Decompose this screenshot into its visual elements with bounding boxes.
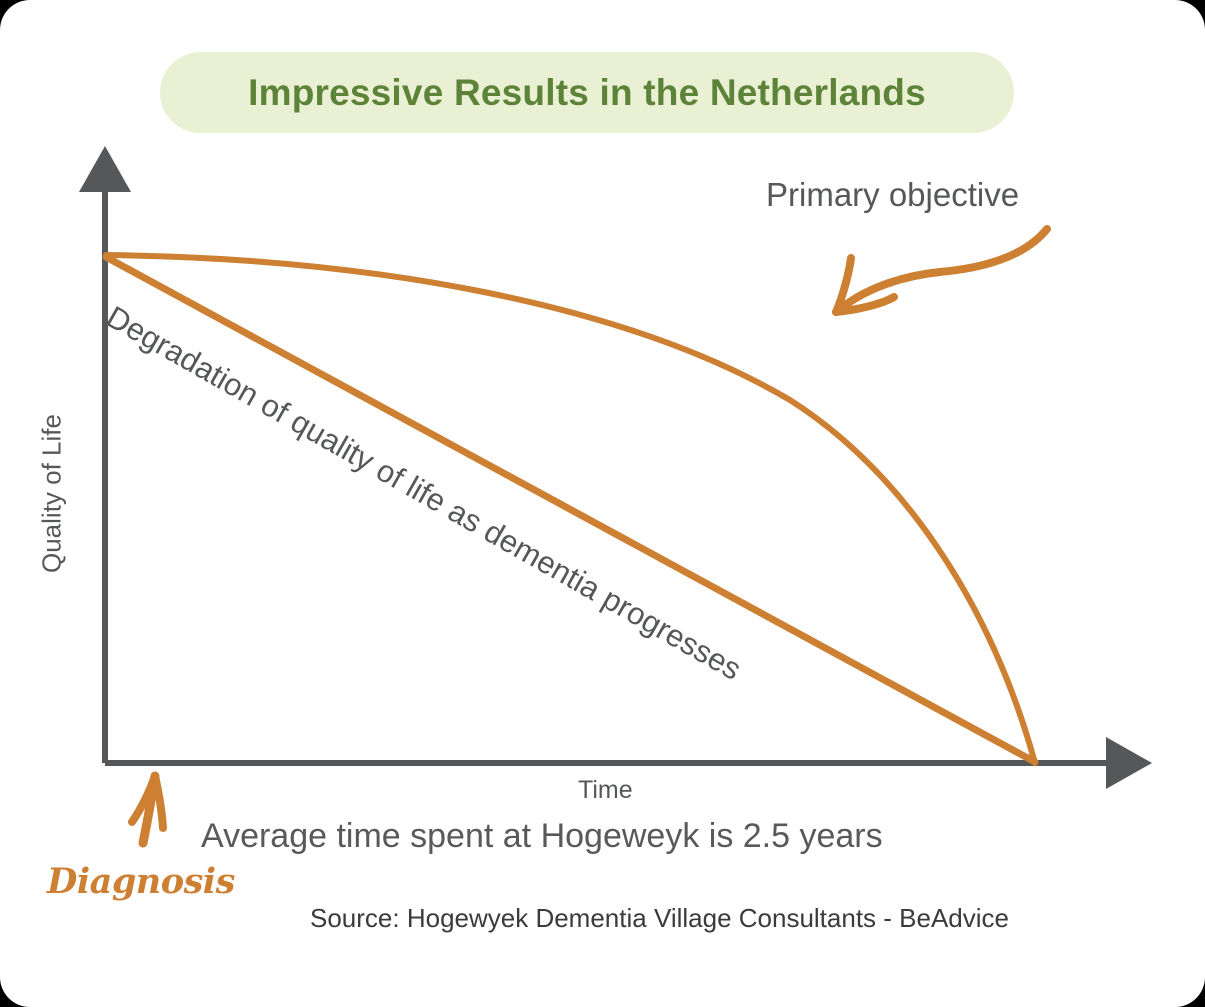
infographic-card: Impressive Results in the Netherlands Qu… <box>0 0 1205 1007</box>
arrow-up-icon <box>79 146 131 192</box>
average-time-caption: Average time spent at Hogeweyk is 2.5 ye… <box>201 817 883 856</box>
curved-arrow-down-left-icon <box>836 229 1047 312</box>
arrow-right-icon <box>1106 737 1152 789</box>
diagnosis-label: Diagnosis <box>47 861 235 902</box>
x-axis-label: Time <box>578 776 633 805</box>
hand-drawn-arrow-up-icon <box>132 776 163 843</box>
primary-objective-label: Primary objective <box>766 176 1019 214</box>
y-axis-label: Quality of Life <box>37 394 68 594</box>
degradation-line <box>106 257 1035 762</box>
source-caption: Source: Hogewyek Dementia Village Consul… <box>310 903 1009 934</box>
